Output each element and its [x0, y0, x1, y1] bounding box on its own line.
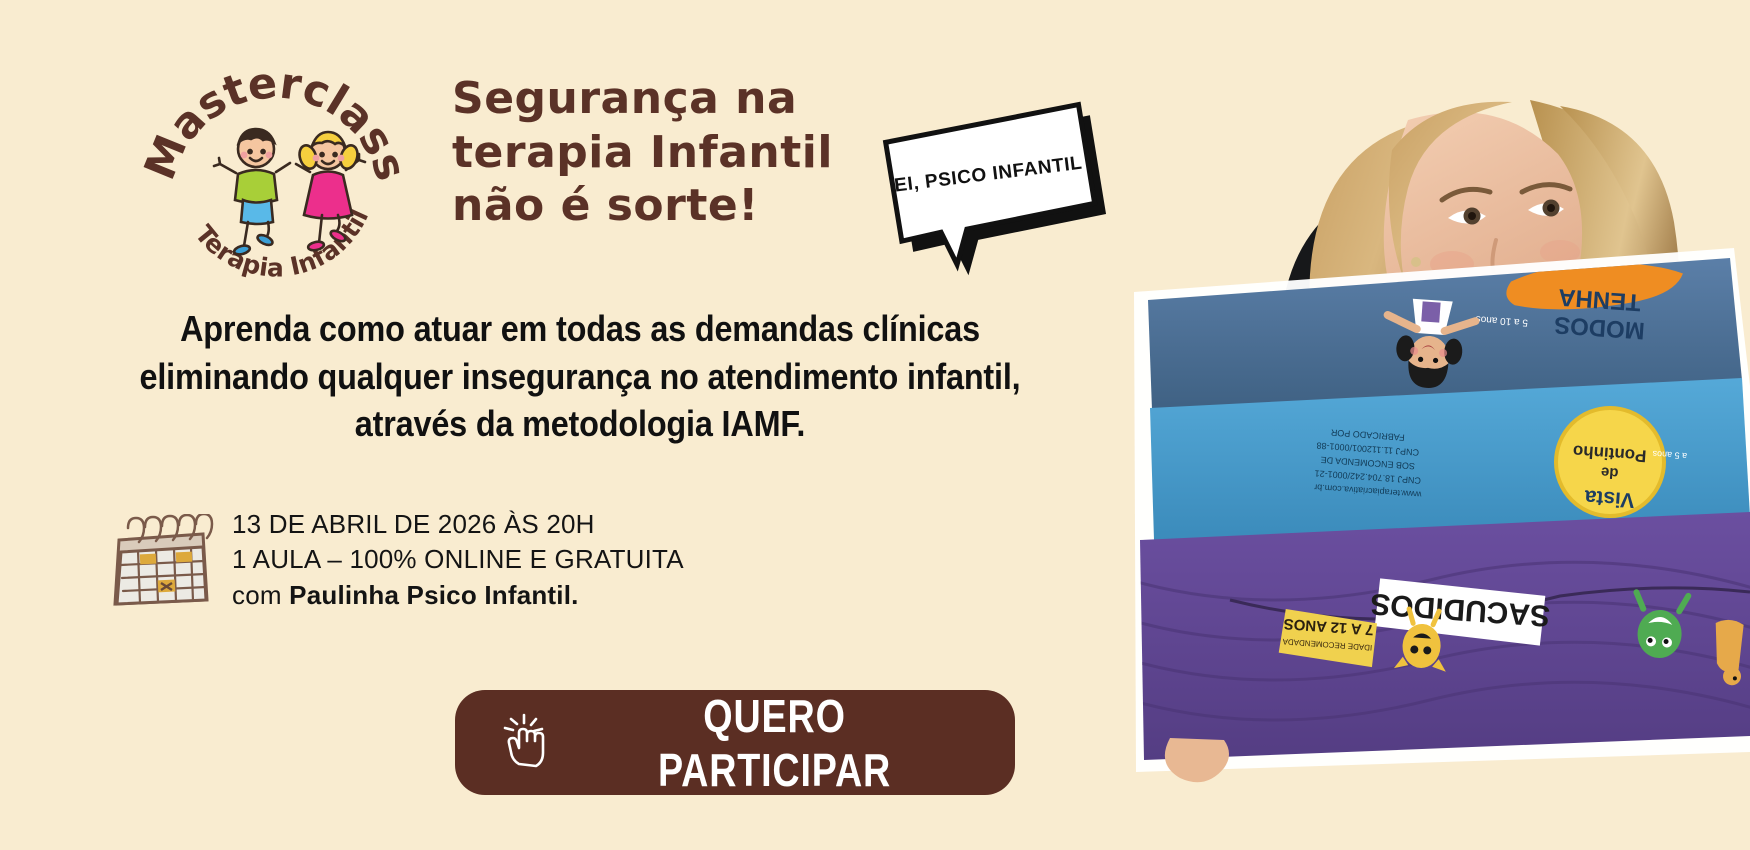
- two-children-illustration: [214, 129, 365, 256]
- cta-label: QUERO PARTICIPAR: [598, 689, 974, 797]
- headline-line-1: Segurança na: [452, 72, 882, 126]
- headline-line-2: terapia Infantil: [452, 126, 882, 180]
- promo-banner: Masterclass Terapia Infantil: [0, 0, 1750, 850]
- logo-top-text: Masterclass: [135, 58, 416, 187]
- event-info: 13 DE ABRIL DE 2026 ÀS 20H 1 AULA – 100%…: [108, 505, 684, 613]
- quero-participar-button[interactable]: QUERO PARTICIPAR: [455, 690, 1015, 795]
- event-date: 13 DE ABRIL DE 2026 ÀS 20H: [232, 507, 684, 542]
- subheadline-line-3: através da metodologia IAMF.: [58, 400, 1102, 448]
- event-info-lines: 13 DE ABRIL DE 2026 ÀS 20H 1 AULA – 100%…: [232, 505, 684, 613]
- masterclass-logo: Masterclass Terapia Infantil: [150, 42, 400, 292]
- svg-text:de: de: [1600, 463, 1619, 481]
- event-format: 1 AULA – 100% ONLINE E GRATUITA: [232, 542, 684, 577]
- svg-text:TENHA: TENHA: [1557, 283, 1641, 316]
- calendar-icon: [108, 514, 214, 606]
- subheadline-line-1: Aprenda como atuar em todas as demandas …: [58, 305, 1102, 353]
- click-hand-icon: [495, 712, 557, 774]
- subheadline-line-2: eliminando qualquer insegurança no atend…: [58, 353, 1102, 401]
- box-sacudidos: SACUDIDOS IDADE RECOMENDADA 7 A 12 ANOS: [1130, 512, 1750, 760]
- headline: Segurança na terapia Infantil não é sort…: [452, 72, 882, 233]
- game-boxes: TENHA MODOS 5 a 10 anos: [1130, 248, 1750, 772]
- headline-line-3: não é sorte!: [452, 179, 882, 233]
- presenter-photo: TENHA MODOS 5 a 10 anos: [1130, 0, 1750, 850]
- event-host-prefix: com: [232, 580, 289, 610]
- earring: [1411, 257, 1421, 267]
- svg-text:Vista: Vista: [1584, 485, 1636, 511]
- event-host-name: Paulinha Psico Infantil.: [289, 580, 578, 610]
- event-host: com Paulinha Psico Infantil.: [232, 578, 684, 613]
- subheadline: Aprenda como atuar em todas as demandas …: [58, 305, 1102, 448]
- speech-bubble: EI, PSICO INFANTIL: [870, 108, 1110, 268]
